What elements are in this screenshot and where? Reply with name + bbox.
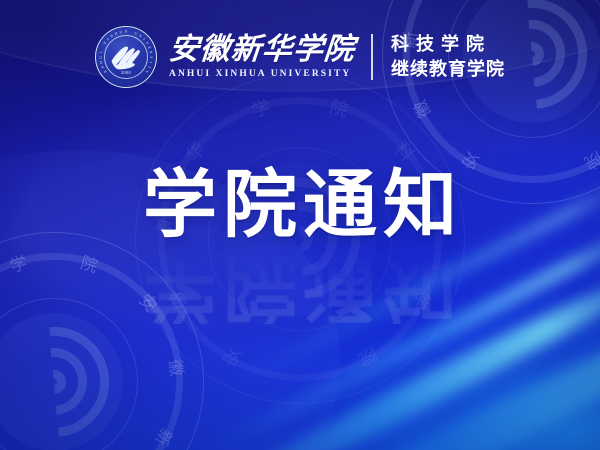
crest-year: 2000	[95, 70, 157, 75]
notice-banner: 安徽新华学院科技学院 学院科技学院安徽新华 安徽新华学院科技学院 ANHUI X…	[0, 0, 600, 450]
sub-college-block: 科技学院 继续教育学院	[391, 35, 505, 80]
vertical-divider	[371, 34, 373, 80]
sub-college-label-0: 科技学院	[391, 35, 491, 55]
university-name-cn: 安徽新华学院	[168, 34, 357, 65]
university-crest-icon: ANHUI XINHUA UNIVERSITY 2000	[95, 26, 157, 88]
main-title-zone: 学院通知 学院通知	[0, 168, 600, 324]
page-title: 学院通知	[137, 168, 463, 242]
header-logo-lockup: ANHUI XINHUA UNIVERSITY 2000 安徽新华学院 ANHU…	[0, 26, 600, 88]
university-name-block: 安徽新华学院 ANHUI XINHUA UNIVERSITY	[169, 34, 355, 80]
page-title-reflection: 学院通知	[137, 250, 463, 324]
university-name-en: ANHUI XINHUA UNIVERSITY	[169, 70, 351, 80]
sub-college-label-1: 继续教育学院	[391, 60, 505, 80]
